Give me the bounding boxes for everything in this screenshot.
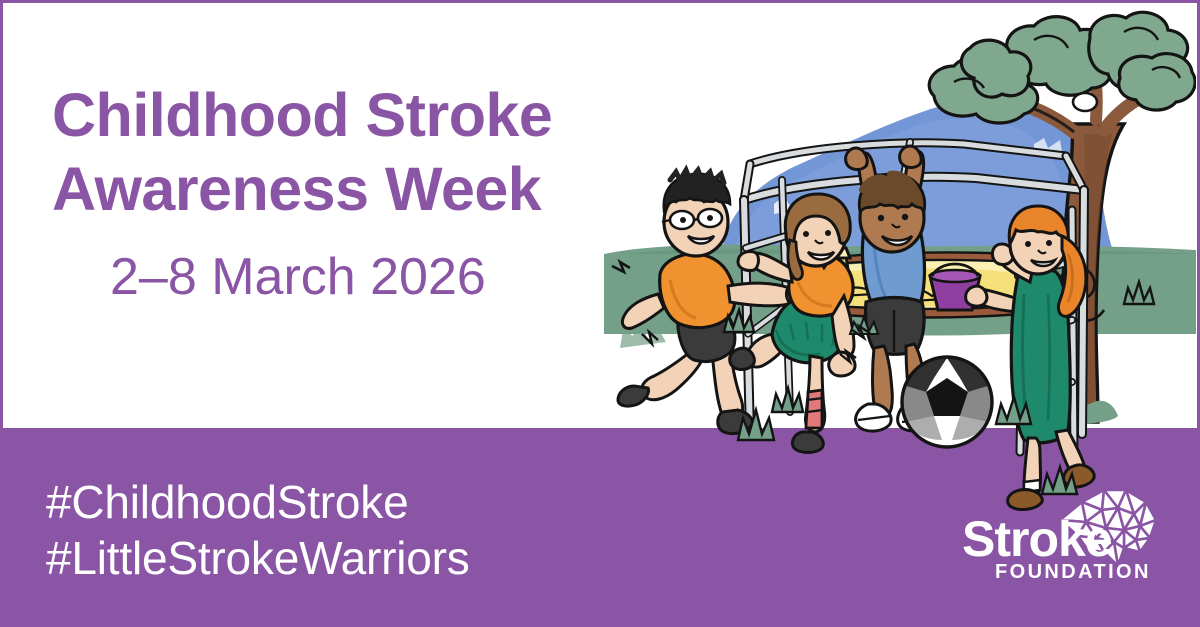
hanging-boy-left-hand — [846, 148, 868, 169]
childhood-stroke-awareness-banner: Childhood Stroke Awareness Week 2–8 Marc… — [0, 0, 1200, 627]
grass-tuft-2 — [772, 388, 803, 412]
leg-brace-afo — [806, 390, 822, 428]
headline-block: Childhood Stroke Awareness Week 2–8 Marc… — [52, 78, 692, 308]
tree-foliage — [929, 12, 1195, 123]
hanging-boy-eye-left — [878, 215, 884, 221]
ladder-girl-eye-left — [1025, 241, 1031, 247]
boy-shoe-back — [618, 386, 649, 406]
bucket-rim — [930, 270, 980, 282]
boy-eye-right — [707, 215, 713, 221]
girl-back-shoe — [730, 348, 755, 369]
ladder-girl-eye-right — [1046, 240, 1052, 246]
playground-illustration-svg — [604, 4, 1196, 514]
stroke-foundation-logo: Stroke FOUNDATION — [960, 478, 1160, 594]
logo-subtitle: FOUNDATION — [995, 562, 1151, 582]
hashtag-block: #ChildhoodStroke #LittleStrokeWarriors — [46, 474, 470, 586]
girl-left-hand — [738, 251, 759, 270]
canopy-gap — [1073, 93, 1097, 111]
headline-line-2: Awareness Week — [52, 152, 692, 226]
grass-texture-3 — [1104, 304, 1164, 334]
hanging-boy-eye-right — [902, 214, 908, 220]
headline-line-1: Childhood Stroke — [52, 78, 692, 152]
ladder-girl-left-hand — [966, 286, 987, 306]
playground-illustration — [604, 4, 1196, 514]
girl-eye-right — [825, 230, 831, 236]
girl-front-shoe — [792, 432, 823, 453]
logo-wordmark: Stroke — [962, 514, 1112, 564]
soccer-ball — [902, 357, 992, 447]
hanging-boy-right-hand — [900, 146, 922, 167]
girl-eye-left — [803, 231, 809, 237]
hashtag-little-stroke-warriors: #LittleStrokeWarriors — [46, 530, 470, 586]
hashtag-childhood-stroke: #ChildhoodStroke — [46, 474, 470, 530]
event-date: 2–8 March 2026 — [110, 246, 692, 308]
